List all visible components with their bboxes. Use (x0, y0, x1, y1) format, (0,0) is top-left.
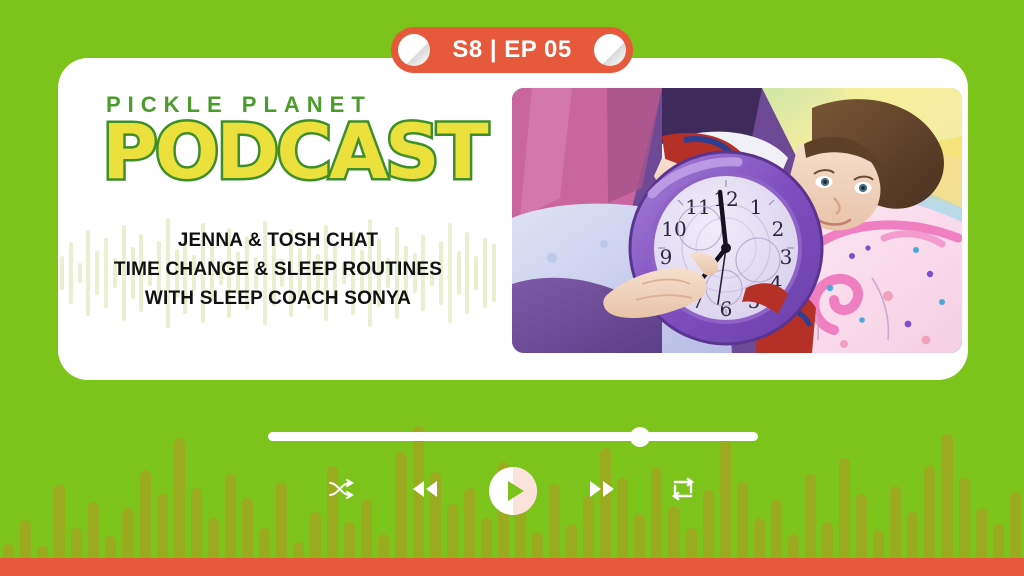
waveform-bar (174, 438, 185, 558)
waveform-bar (225, 474, 236, 558)
waveform-bar (959, 478, 970, 558)
waveform-bar (532, 532, 543, 558)
waveform-bar (566, 524, 577, 558)
waveform-bar (839, 458, 850, 558)
waveform-bar (907, 512, 918, 558)
waveform-bar (873, 530, 884, 558)
waveform-bar (71, 528, 82, 558)
audio-player (268, 432, 758, 515)
waveform-bar (122, 508, 133, 558)
repeat-icon (669, 477, 697, 506)
waveform-bar (191, 488, 202, 558)
waveform-bar (208, 518, 219, 558)
waveform-bar (890, 486, 901, 558)
waveform-bar (788, 534, 799, 558)
artwork-illustration: 12 1 2 3 4 5 6 7 8 9 10 11 (512, 88, 962, 353)
episode-title: JENNA & TOSH CHAT TIME CHANGE & SLEEP RO… (58, 208, 498, 313)
waveform-bar (378, 534, 389, 558)
waveform-bar (242, 498, 253, 558)
waveform-bar (293, 542, 304, 558)
episode-artwork: 12 1 2 3 4 5 6 7 8 9 10 11 (512, 88, 962, 353)
waveform-bar (344, 522, 355, 558)
fast-forward-icon (587, 479, 617, 504)
play-icon (508, 481, 524, 501)
episode-title-block: JENNA & TOSH CHAT TIME CHANGE & SLEEP RO… (58, 208, 498, 338)
badge-hole-right-icon (594, 34, 626, 66)
waveform-bar (54, 484, 65, 558)
waveform-bar (259, 528, 270, 558)
svg-text:10: 10 (661, 217, 686, 241)
svg-text:6: 6 (720, 297, 733, 321)
shuffle-button[interactable] (326, 474, 360, 508)
waveform-bar (37, 546, 48, 558)
waveform-bar (976, 508, 987, 558)
waveform-bar (140, 470, 151, 558)
rewind-icon (410, 479, 440, 504)
wall-clock: 12 1 2 3 4 5 6 7 8 9 10 11 (630, 152, 822, 344)
podcast-episode-graphic: PICKLE PLANET PODCAST JENNA & TOSH CHAT … (0, 0, 1024, 576)
play-button[interactable] (489, 467, 537, 515)
waveform-bar (88, 502, 99, 558)
episode-title-line-2: TIME CHANGE & SLEEP ROUTINES (58, 255, 498, 284)
svg-text:2: 2 (772, 217, 785, 241)
waveform-bar (993, 524, 1004, 558)
waveform-bar (310, 512, 321, 558)
svg-text:3: 3 (780, 245, 793, 269)
svg-text:9: 9 (660, 245, 673, 269)
svg-text:12: 12 (713, 187, 738, 211)
shuffle-icon (328, 478, 358, 505)
progress-handle[interactable] (630, 427, 650, 447)
rewind-button[interactable] (408, 474, 442, 508)
repeat-button[interactable] (666, 474, 700, 508)
episode-title-line-3: WITH SLEEP COACH SONYA (58, 284, 498, 313)
svg-text:1: 1 (750, 195, 763, 219)
waveform-bar (3, 544, 14, 558)
waveform-bar (157, 494, 168, 558)
fast-forward-button[interactable] (585, 474, 619, 508)
waveform-bar (105, 536, 116, 558)
waveform-bar (856, 494, 867, 558)
player-controls (268, 467, 758, 515)
waveform-bar (686, 528, 697, 558)
waveform-bar (805, 474, 816, 558)
waveform-bar (754, 518, 765, 558)
waveform-bar (634, 514, 645, 558)
waveform-bar (481, 518, 492, 558)
progress-bar[interactable] (268, 432, 758, 441)
branding-column: PICKLE PLANET PODCAST JENNA & TOSH CHAT … (58, 58, 498, 380)
bottom-accent-bar (0, 558, 1024, 576)
waveform-bar (771, 500, 782, 558)
waveform-bar (20, 520, 31, 558)
waveform-bar (1010, 492, 1021, 558)
waveform-bar (941, 434, 952, 558)
episode-title-line-1: JENNA & TOSH CHAT (58, 226, 498, 255)
waveform-bar (822, 522, 833, 558)
brand-wordmark: PODCAST (102, 114, 486, 190)
waveform-bar (924, 466, 935, 558)
